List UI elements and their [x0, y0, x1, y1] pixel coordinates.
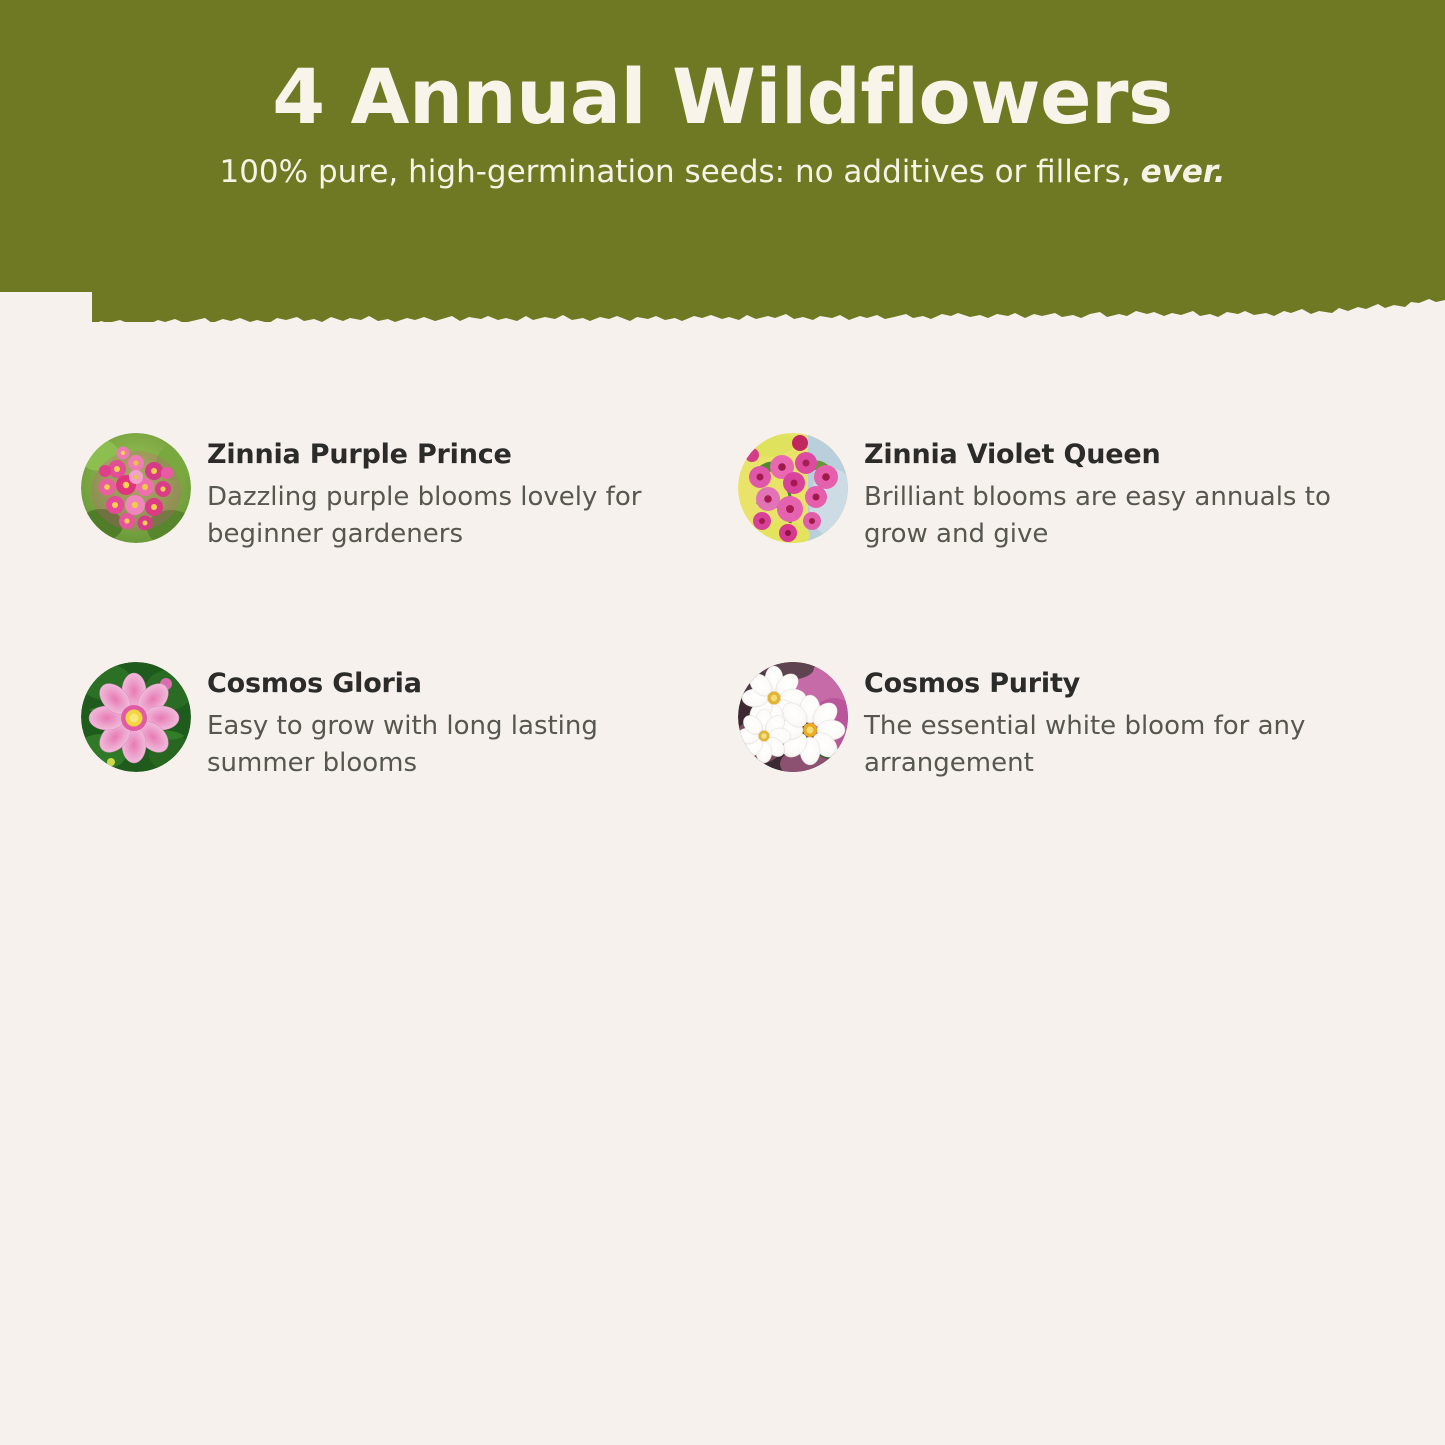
feature-text-block: Zinnia Purple Prince Dazzling purple blo…: [191, 418, 677, 554]
thumbnail-container: [738, 433, 848, 543]
page-subtitle: 100% pure, high-germination seeds: no ad…: [0, 154, 1445, 191]
thumbnail-container: [81, 433, 191, 543]
feature-title: Cosmos Purity: [864, 667, 1364, 701]
feature-description: The essential white bloom for any arrang…: [864, 708, 1364, 783]
page-title: 4 Annual Wildflowers: [0, 58, 1445, 136]
feature-description: Brilliant blooms are easy annuals to gro…: [864, 479, 1364, 554]
thumbnail-container: [738, 662, 848, 772]
feature-item-zinnia-violet-queen[interactable]: Zinnia Violet Queen Brilliant blooms are…: [738, 418, 1395, 647]
cosmos-gloria-photo: [81, 662, 191, 772]
header-banner: 4 Annual Wildflowers 100% pure, high-ger…: [0, 0, 1445, 292]
feature-item-cosmos-purity[interactable]: Cosmos Purity The essential white bloom …: [738, 647, 1395, 876]
feature-description: Dazzling purple blooms lovely for beginn…: [207, 479, 677, 554]
zinnia-purple-prince-photo: [81, 433, 191, 543]
feature-description: Easy to grow with long lasting summer bl…: [207, 708, 677, 783]
feature-text-block: Cosmos Gloria Easy to grow with long las…: [191, 647, 677, 783]
feature-text-block: Cosmos Purity The essential white bloom …: [848, 647, 1364, 783]
zinnia-violet-queen-photo: [738, 433, 848, 543]
feature-title: Zinnia Purple Prince: [207, 438, 677, 472]
torn-paper-edge-divider: [0, 252, 1445, 322]
feature-text-block: Zinnia Violet Queen Brilliant blooms are…: [848, 418, 1364, 554]
subtitle-lead-text: 100% pure, high-germination seeds: no ad…: [219, 154, 1140, 190]
feature-item-cosmos-gloria[interactable]: Cosmos Gloria Easy to grow with long las…: [81, 647, 738, 876]
feature-item-zinnia-purple-prince[interactable]: Zinnia Purple Prince Dazzling purple blo…: [81, 418, 738, 647]
thumbnail-container: [81, 662, 191, 772]
feature-title: Zinnia Violet Queen: [864, 438, 1364, 472]
header-content: 4 Annual Wildflowers 100% pure, high-ger…: [0, 0, 1445, 191]
subtitle-emphasis-text: ever.: [1141, 154, 1226, 190]
feature-list: Zinnia Purple Prince Dazzling purple blo…: [0, 418, 1445, 876]
cosmos-purity-photo: [738, 662, 848, 772]
feature-title: Cosmos Gloria: [207, 667, 677, 701]
